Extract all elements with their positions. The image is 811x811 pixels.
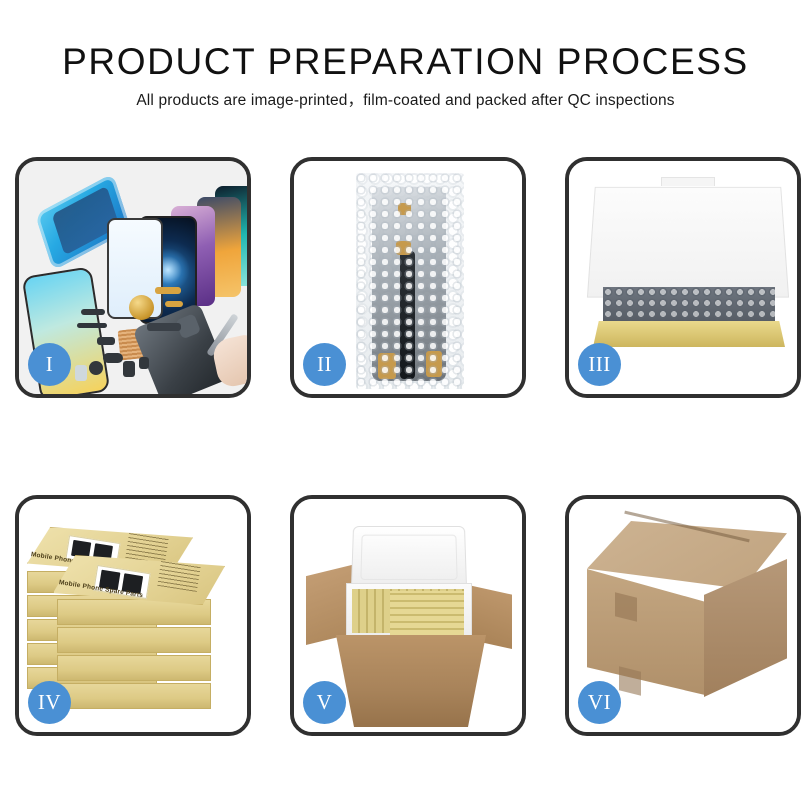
part-icon bbox=[81, 309, 105, 315]
box-lid bbox=[587, 187, 789, 298]
flex-cable-icon bbox=[77, 323, 107, 328]
connector-icon bbox=[426, 351, 442, 377]
bubble-bag bbox=[356, 173, 464, 389]
foam-lid bbox=[351, 526, 467, 589]
box-edge bbox=[57, 683, 211, 709]
step-panel-4[interactable]: Mobile Phone Spare Parts Mobile Phone Sp… bbox=[15, 495, 251, 736]
step-badge-3: III bbox=[578, 343, 621, 386]
connector-icon bbox=[378, 353, 396, 379]
gold-boxes-row-2 bbox=[390, 591, 464, 635]
box-edge bbox=[57, 627, 211, 653]
step-badge-1: I bbox=[28, 343, 71, 386]
part-icon bbox=[103, 353, 123, 363]
carton-tape-upper bbox=[615, 592, 637, 621]
step-panel-5[interactable]: V bbox=[290, 495, 526, 736]
connector-icon bbox=[398, 203, 411, 215]
step-panel-6[interactable]: VI bbox=[565, 495, 801, 736]
step-panel-2[interactable]: II bbox=[290, 157, 526, 398]
flex-cable-icon bbox=[155, 287, 181, 294]
connector-icon bbox=[396, 241, 411, 255]
box-lid-tab bbox=[661, 177, 715, 186]
flex-cable-icon bbox=[165, 301, 183, 307]
speaker-coil-icon bbox=[129, 295, 154, 320]
step-badge-2: II bbox=[303, 343, 346, 386]
box-tray-front bbox=[593, 321, 785, 347]
part-icon bbox=[97, 337, 115, 345]
step-panel-3[interactable]: III bbox=[565, 157, 801, 398]
step-badge-4: IV bbox=[28, 681, 71, 724]
page-header: PRODUCT PREPARATION PROCESS All products… bbox=[0, 0, 811, 112]
part-icon bbox=[139, 357, 149, 369]
page-title: PRODUCT PREPARATION PROCESS bbox=[0, 40, 811, 84]
process-steps-grid: I II III bbox=[15, 157, 800, 736]
step-badge-5: V bbox=[303, 681, 346, 724]
part-icon bbox=[75, 365, 87, 381]
carton-tape-lower bbox=[619, 666, 641, 695]
flex-cable-icon bbox=[400, 251, 415, 379]
page-subtitle: All products are image-printed，film-coat… bbox=[0, 90, 811, 112]
carton-body bbox=[336, 635, 486, 727]
box-edge bbox=[57, 655, 211, 681]
flex-cable-icon bbox=[147, 323, 181, 331]
step-panel-1[interactable]: I bbox=[15, 157, 251, 398]
part-icon bbox=[89, 361, 103, 375]
step-badge-6: VI bbox=[578, 681, 621, 724]
part-icon bbox=[123, 361, 135, 377]
